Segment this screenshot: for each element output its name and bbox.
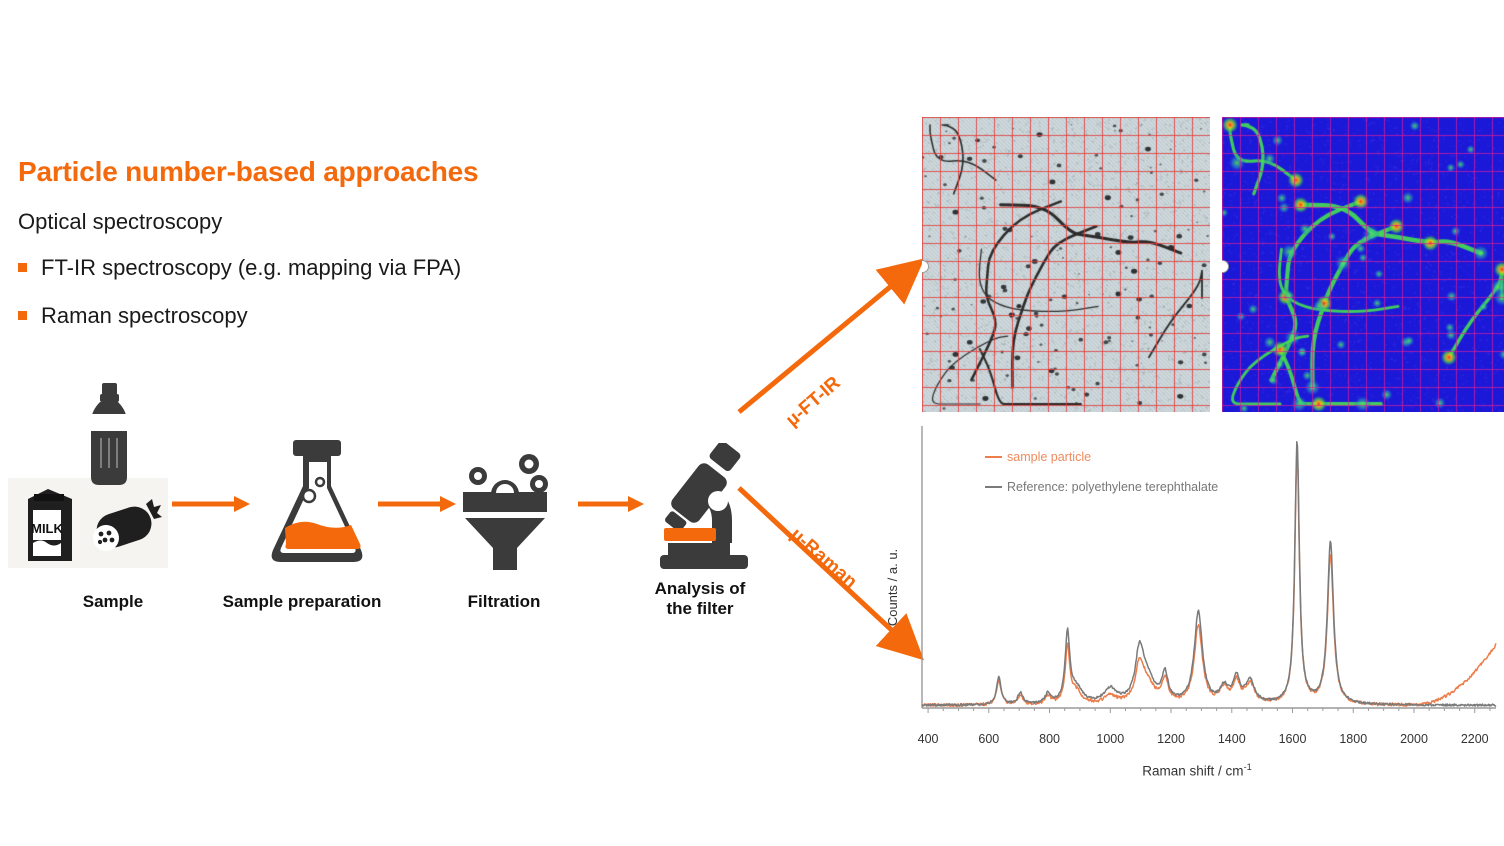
x-tick-label: 400 (918, 732, 939, 746)
x-tick-label: 800 (1039, 732, 1060, 746)
sausage-icon (88, 498, 164, 565)
x-tick-label: 1600 (1279, 732, 1307, 746)
raman-spectrum-chart: Counts / a. u. sample particle Reference… (890, 420, 1504, 800)
legend-item-reference: Reference: polyethylene terephthalate (985, 480, 1218, 494)
workflow-label-sample: Sample (48, 592, 178, 612)
square-bullet-icon (18, 263, 27, 272)
milk-carton-icon: MILK (14, 483, 86, 570)
x-axis-label: Raman shift / cm-1 (890, 762, 1504, 779)
right-arrow-icon (578, 495, 644, 518)
workflow-label-filtration: Filtration (430, 592, 578, 612)
right-arrow-icon (378, 495, 456, 518)
y-axis-label: Counts / a. u. (885, 549, 900, 626)
svg-text:MILK: MILK (31, 521, 63, 536)
x-tick-label: 600 (978, 732, 999, 746)
spectrum-plot (890, 420, 1504, 730)
fpa-chemical-map (1222, 117, 1504, 412)
legend-label: sample particle (1007, 450, 1091, 464)
erlenmeyer-flask-icon (265, 440, 371, 575)
x-tick-label: 1800 (1339, 732, 1367, 746)
page-title: Particle number-based approaches (18, 156, 478, 188)
bullet-label: FT-IR spectroscopy (e.g. mapping via FPA… (41, 255, 461, 281)
right-arrow-icon (172, 495, 250, 518)
legend-swatch (985, 456, 1002, 458)
x-tick-label: 1200 (1157, 732, 1185, 746)
x-tick-label: 2200 (1461, 732, 1489, 746)
bullet-label: Raman spectroscopy (41, 303, 248, 329)
sample-bottle-icon (74, 383, 144, 493)
x-tick-label: 2000 (1400, 732, 1428, 746)
legend-swatch (985, 486, 1002, 488)
slide-canvas: Particle number-based approaches Optical… (0, 0, 1504, 846)
funnel-icon (455, 448, 555, 575)
workflow-label-sample-preparation: Sample preparation (196, 592, 408, 612)
x-tick-label: 1400 (1218, 732, 1246, 746)
legend-label: Reference: polyethylene terephthalate (1007, 480, 1218, 494)
subtitle: Optical spectroscopy (18, 209, 222, 235)
bullet-item-ftir: FT-IR spectroscopy (e.g. mapping via FPA… (18, 255, 461, 281)
bullet-item-raman: Raman spectroscopy (18, 303, 248, 329)
x-tick-label: 1000 (1096, 732, 1124, 746)
legend-item-sample: sample particle (985, 450, 1091, 464)
square-bullet-icon (18, 311, 27, 320)
optical-filter-micrograph (922, 117, 1210, 412)
